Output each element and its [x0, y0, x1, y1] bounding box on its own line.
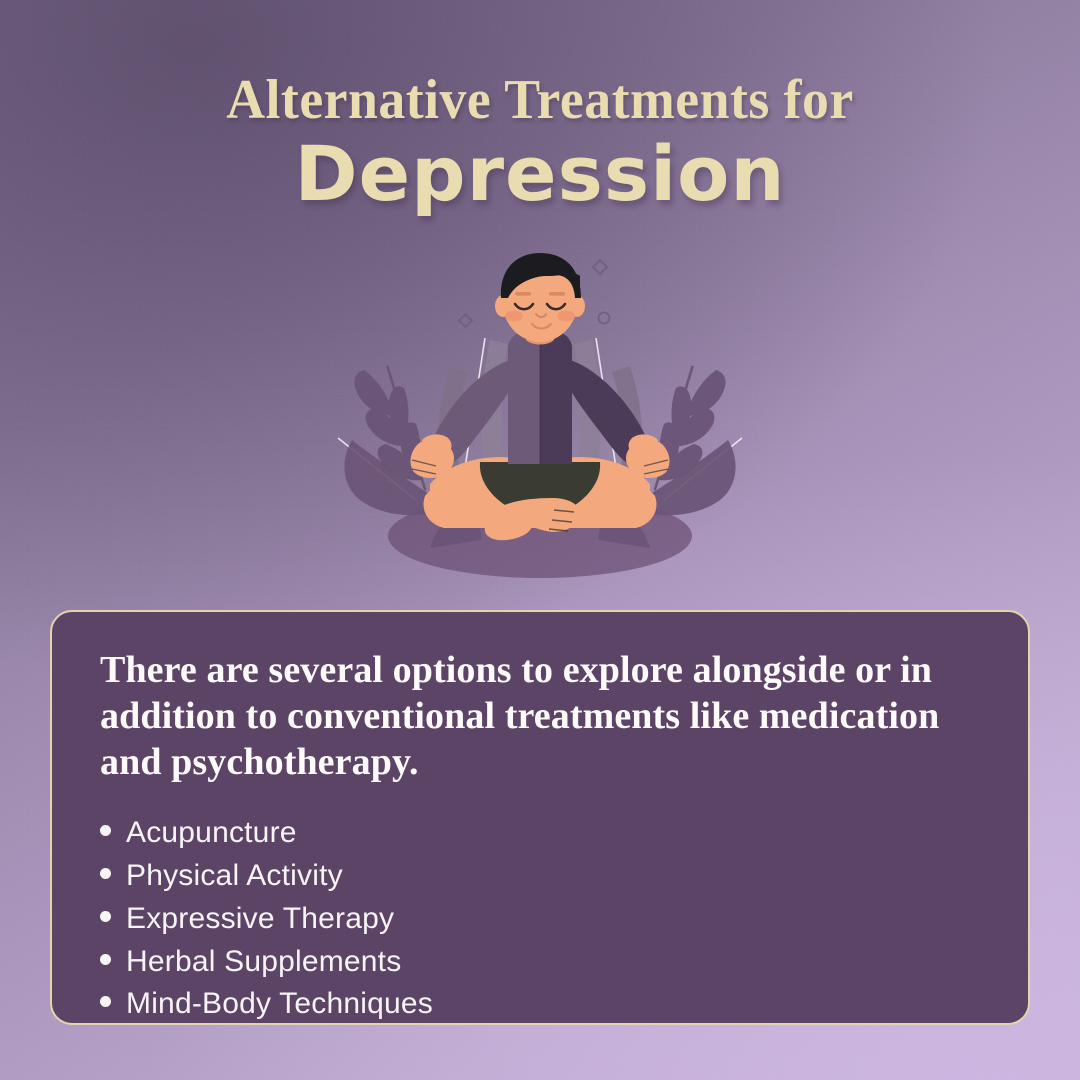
card-lead-paragraph: There are several options to explore alo… [100, 648, 984, 786]
bullet-dot-icon [100, 954, 111, 965]
title-line-2: Depression [0, 135, 1080, 213]
list-item-label: Acupuncture [126, 812, 297, 855]
list-item-label: Expressive Therapy [126, 898, 394, 941]
meditating-person-illustration [330, 248, 750, 593]
list-item: Herbal Supplements [100, 941, 984, 984]
bullet-dot-icon [100, 911, 111, 922]
bullet-dot-icon [100, 825, 111, 836]
list-item-label: Mind-Body Techniques [126, 983, 433, 1025]
list-item: Expressive Therapy [100, 898, 984, 941]
bullet-dot-icon [100, 868, 111, 879]
page-title: Alternative Treatments for Depression [0, 72, 1080, 213]
bullet-dot-icon [100, 996, 111, 1007]
list-item: Physical Activity [100, 855, 984, 898]
info-card: There are several options to explore alo… [50, 610, 1030, 1025]
list-item-label: Physical Activity [126, 855, 343, 898]
list-item: Acupuncture [100, 812, 984, 855]
treatments-list: Acupuncture Physical Activity Expressive… [100, 812, 984, 1025]
poster-root: Alternative Treatments for Depression [0, 0, 1080, 1080]
list-item: Mind-Body Techniques [100, 983, 984, 1025]
title-line-1: Alternative Treatments for [22, 72, 1059, 129]
list-item-label: Herbal Supplements [126, 941, 401, 984]
